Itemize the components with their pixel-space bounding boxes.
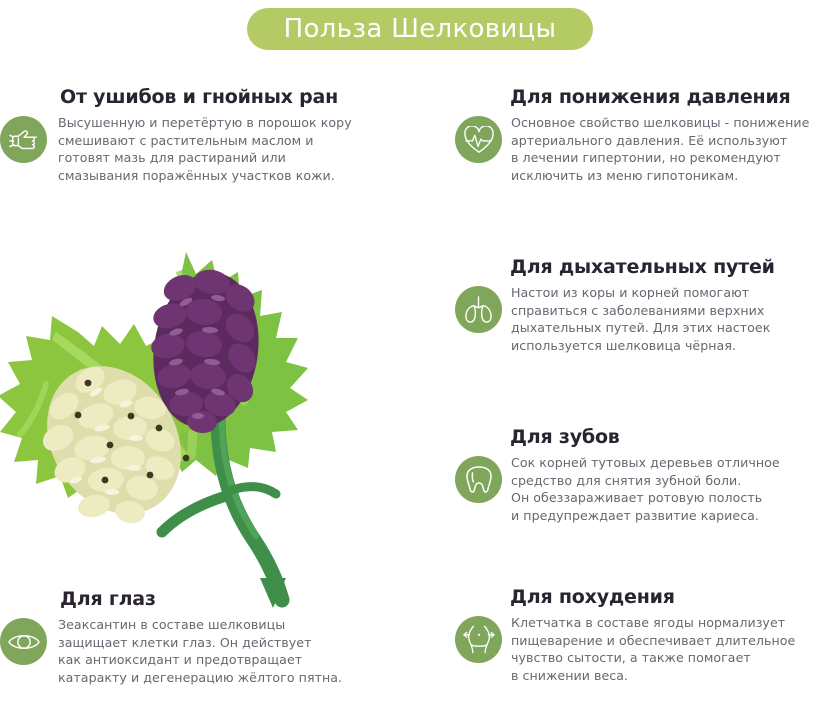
- benefit-text-eyes: Зеаксантин в составе шелковицы защищает …: [58, 616, 342, 686]
- page-title-banner: Польза Шелковицы: [247, 8, 593, 50]
- benefit-block-airways: Для дыхательных путей Настои из коры и к…: [455, 256, 840, 354]
- benefit-block-eyes: Для глаз Зеаксантин в составе шелковицы …: [0, 588, 420, 686]
- page-title: Польза Шелковицы: [284, 14, 557, 44]
- benefit-heading-airways: Для дыхательных путей: [510, 256, 840, 278]
- lungs-icon: [455, 286, 502, 333]
- benefit-text-airways: Настои из коры и корней помогают справит…: [511, 284, 770, 354]
- benefit-text-weight: Клетчатка в составе ягоды нормализует пи…: [511, 614, 795, 684]
- benefit-text-pressure: Основное свойство шелковицы - понижение …: [511, 114, 809, 184]
- benefit-block-weight: Для похудения Клетчатка в составе ягоды …: [455, 586, 840, 684]
- bandaged-hand-icon: [0, 116, 47, 163]
- benefit-text-bruises: Высушенную и перетёртую в порошок кору с…: [58, 114, 352, 184]
- tooth-icon: [455, 456, 502, 503]
- benefit-heading-eyes: Для глаз: [60, 588, 420, 610]
- benefit-block-teeth: Для зубов Сок корней тутовых деревьев от…: [455, 426, 840, 524]
- slim-waist-icon: [455, 616, 502, 663]
- eye-icon: [0, 618, 47, 665]
- heart-pulse-icon: [455, 116, 502, 163]
- benefit-block-bruises: От ушибов и гнойных ран Высушенную и пер…: [0, 86, 420, 184]
- benefit-heading-bruises: От ушибов и гнойных ран: [60, 86, 420, 108]
- benefit-block-pressure: Для понижения давления Основное свойство…: [455, 86, 840, 184]
- benefit-text-teeth: Сок корней тутовых деревьев отличное сре…: [511, 454, 780, 524]
- mulberry-branch-illustration: [0, 240, 370, 610]
- benefit-heading-pressure: Для понижения давления: [510, 86, 840, 108]
- benefit-heading-teeth: Для зубов: [510, 426, 840, 448]
- benefit-heading-weight: Для похудения: [510, 586, 840, 608]
